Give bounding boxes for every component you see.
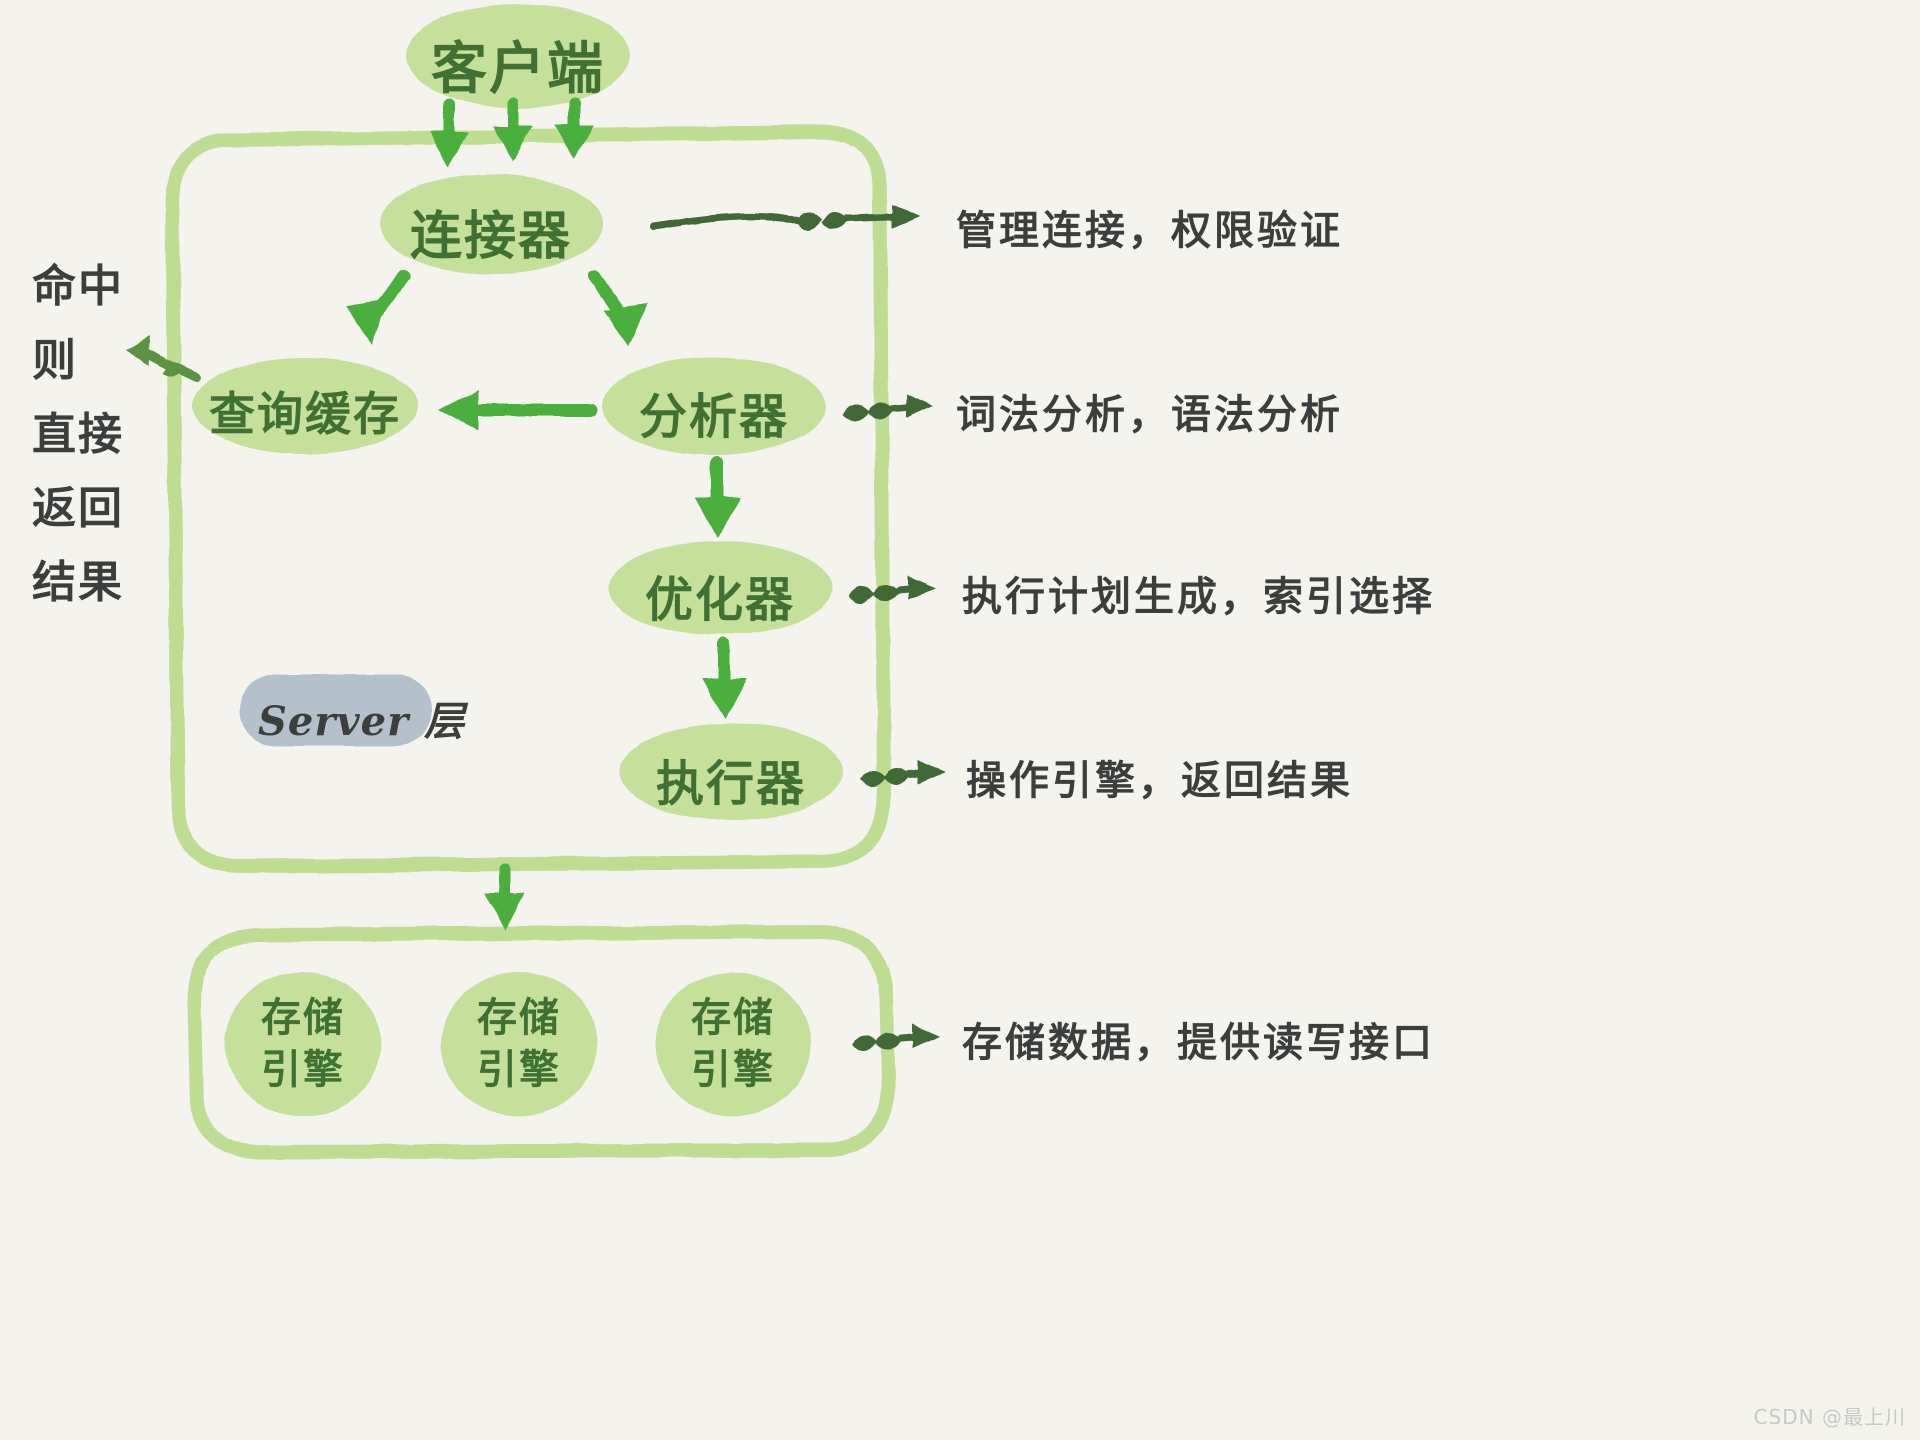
node-storage-engine-shape-2 [441,972,597,1116]
node-client-shape [406,4,630,108]
side-note-cache-hit: 命中 则 直接 返回 结果 [32,250,162,620]
annotation-arrow-parser [848,394,934,418]
node-query-cache-shape [192,358,418,454]
annotation-connector: 管理连接，权限验证 [956,198,1343,256]
side-note-line-5: 结果 [32,546,162,620]
arrow-parser-to-cache [440,390,592,430]
arrow-connector-to-cache [347,276,404,344]
node-executor-shape [619,724,843,820]
arrow-client-1 [430,104,468,166]
server-layer-label: Server 层 [258,689,465,747]
node-storage-engine-shape-3 [655,972,811,1116]
arrow-server-to-storage [486,868,524,930]
arrow-client-3 [555,103,593,159]
arrow-connector-to-parser [594,276,648,345]
side-note-line-2: 则 [32,324,162,398]
annotation-executor: 操作引擎，返回结果 [966,748,1353,806]
annotation-parser: 词法分析，语法分析 [956,382,1343,440]
watermark: CSDN @最上川 [1754,1401,1906,1430]
annotation-storage: 存储数据，提供读写接口 [962,1010,1435,1068]
node-storage-engine-shape-1 [225,972,381,1116]
annotation-arrow-storage [856,1024,940,1048]
annotation-arrow-optimizer [853,576,936,600]
annotation-arrow-executor [864,760,946,784]
arrow-parser-to-optimizer [696,462,740,537]
diagram-canvas: 客户端 连接器 查询缓存 分析器 优化器 执行器 Server 层 存储 引擎 … [0,0,1920,1440]
side-note-line-1: 命中 [32,250,162,324]
node-optimizer-shape [608,541,832,635]
arrow-optimizer-to-executor [703,642,747,718]
annotation-optimizer: 执行计划生成，索引选择 [962,564,1435,622]
node-connector-shape [379,174,603,274]
node-parser-shape [602,357,826,455]
side-note-line-3: 直接 [32,398,162,472]
arrow-client-2 [494,104,532,161]
side-note-line-4: 返回 [32,472,162,546]
